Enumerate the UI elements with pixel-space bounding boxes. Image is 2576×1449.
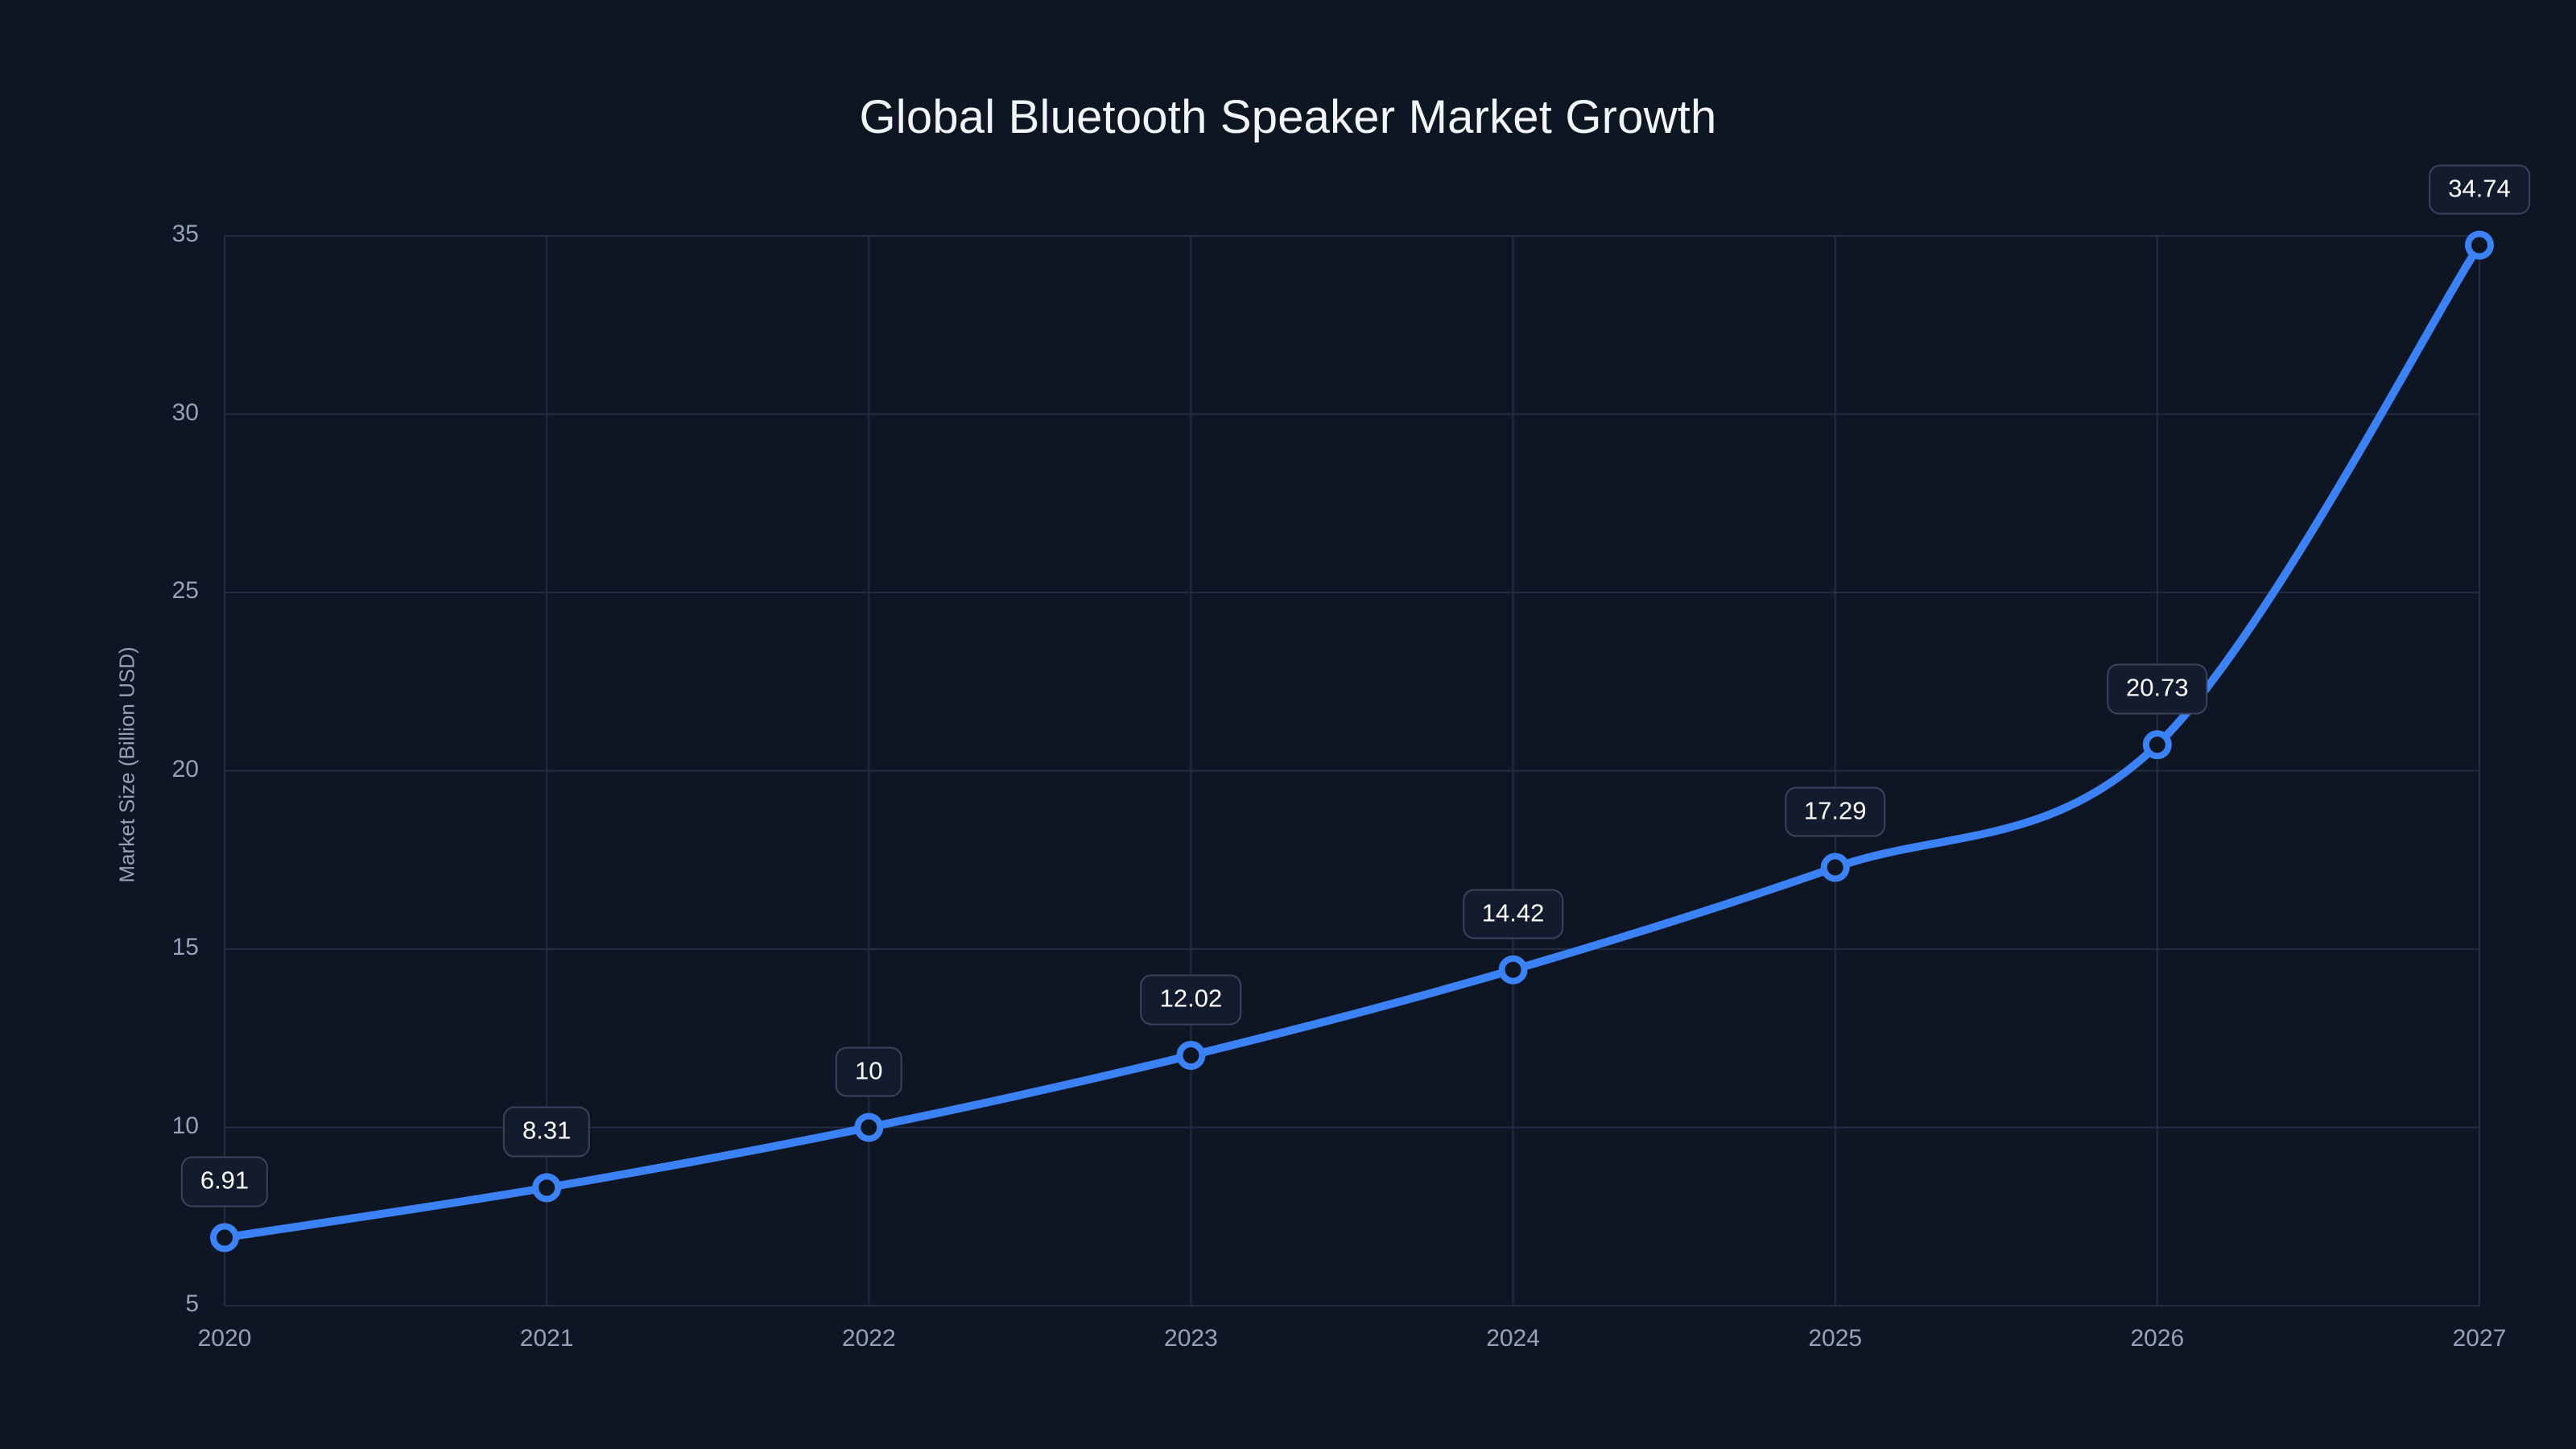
y-axis-tick-label: 15 — [102, 934, 199, 961]
series-line-path — [225, 246, 2479, 1238]
data-point-label-2022: 10 — [836, 1046, 902, 1097]
x-axis-tick-label: 2025 — [1755, 1325, 1916, 1352]
x-axis-tick-label: 2026 — [2077, 1325, 2238, 1352]
line-chart-plot — [0, 0, 2576, 1449]
x-axis-tick-label: 2020 — [144, 1325, 305, 1352]
y-axis-tick-label: 10 — [102, 1113, 199, 1140]
x-axis-tick-label: 2022 — [788, 1325, 949, 1352]
series-marker-2022 — [857, 1117, 880, 1139]
x-axis-tick-label: 2021 — [466, 1325, 627, 1352]
data-point-label-2026: 20.73 — [2107, 664, 2208, 715]
series-marker-2023 — [1179, 1044, 1202, 1067]
x-axis-tick-label: 2027 — [2399, 1325, 2560, 1352]
series-marker-2024 — [1502, 959, 1525, 981]
data-point-label-2023: 12.02 — [1141, 974, 1242, 1025]
data-point-label-2024: 14.42 — [1463, 889, 1564, 939]
series-marker-2026 — [2146, 733, 2169, 756]
chart-canvas: Global Bluetooth Speaker Market Growth M… — [0, 0, 2576, 1449]
x-axis-tick-label: 2024 — [1433, 1325, 1594, 1352]
y-axis-tick-label: 30 — [102, 399, 199, 427]
data-point-label-2020: 6.91 — [181, 1157, 268, 1207]
data-point-label-2027: 34.74 — [2429, 164, 2530, 215]
data-point-label-2021: 8.31 — [503, 1107, 590, 1158]
series-marker-2025 — [1824, 857, 1847, 879]
y-axis-tick-label: 35 — [102, 221, 199, 248]
series-markers — [213, 234, 2491, 1249]
y-axis-tick-label: 5 — [102, 1290, 199, 1318]
y-axis-tick-label: 25 — [102, 577, 199, 605]
series-marker-2020 — [213, 1226, 236, 1249]
y-axis-tick-label: 20 — [102, 756, 199, 783]
series-marker-2027 — [2468, 234, 2491, 257]
data-point-label-2025: 17.29 — [1785, 786, 1886, 837]
series-line — [225, 246, 2479, 1238]
x-axis-tick-label: 2023 — [1110, 1325, 1271, 1352]
series-marker-2021 — [535, 1176, 558, 1199]
